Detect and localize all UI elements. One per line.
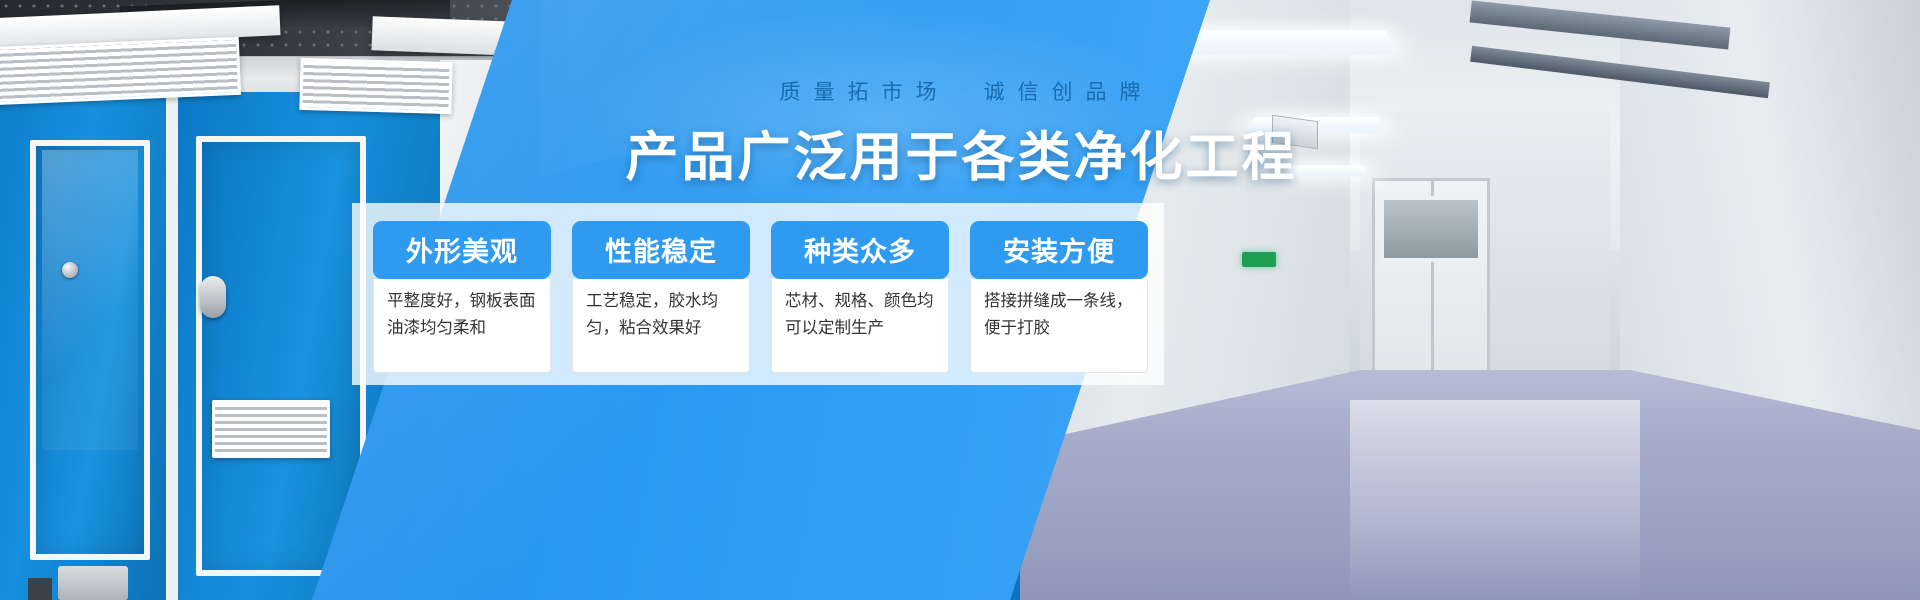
promo-banner: 质量拓市场 诚信创品牌 产品广泛用于各类净化工程 外形美观 平整度好，钢板表面油… — [0, 0, 1920, 600]
feature-card-title: 性能稳定 — [572, 221, 750, 279]
feature-card: 种类众多 芯材、规格、颜色均可以定制生产 — [771, 221, 949, 373]
feature-card-title: 种类众多 — [771, 221, 949, 279]
banner-tagline: 质量拓市场 诚信创品牌 — [0, 76, 1920, 106]
feature-card-title: 安装方便 — [970, 221, 1148, 279]
door-handle-icon-2 — [200, 276, 226, 318]
feature-card: 安装方便 搭接拼缝成一条线，便于打胶 — [970, 221, 1148, 373]
banner-headline: 产品广泛用于各类净化工程 — [0, 115, 1920, 191]
feature-card-text: 搭接拼缝成一条线，便于打胶 — [970, 279, 1148, 373]
feature-card-title: 外形美观 — [373, 221, 551, 279]
cabin-door-2 — [196, 136, 366, 576]
feature-card-text: 芯材、规格、颜色均可以定制生产 — [771, 279, 949, 373]
louvre-vent-icon-3 — [212, 400, 330, 458]
ceiling-light-icon-1 — [1176, 30, 1395, 55]
feature-card: 性能稳定 工艺稳定，胶水均匀，粘合效果好 — [572, 221, 750, 373]
cabin-base-pad — [58, 566, 128, 600]
exit-sign-icon — [1242, 252, 1276, 267]
cabin-foot — [28, 578, 52, 600]
feature-card-text: 平整度好，钢板表面油漆均匀柔和 — [373, 279, 551, 373]
feature-card-text: 工艺稳定，胶水均匀，粘合效果好 — [572, 279, 750, 373]
feature-card-strip: 外形美观 平整度好，钢板表面油漆均匀柔和 性能稳定 工艺稳定，胶水均匀，粘合效果… — [352, 203, 1164, 385]
feature-card: 外形美观 平整度好，钢板表面油漆均匀柔和 — [373, 221, 551, 373]
door-handle-icon-1 — [62, 262, 78, 278]
floor-reflection — [1350, 400, 1640, 600]
cabin-door-glass — [42, 150, 138, 450]
corridor-door-window — [1380, 196, 1482, 262]
